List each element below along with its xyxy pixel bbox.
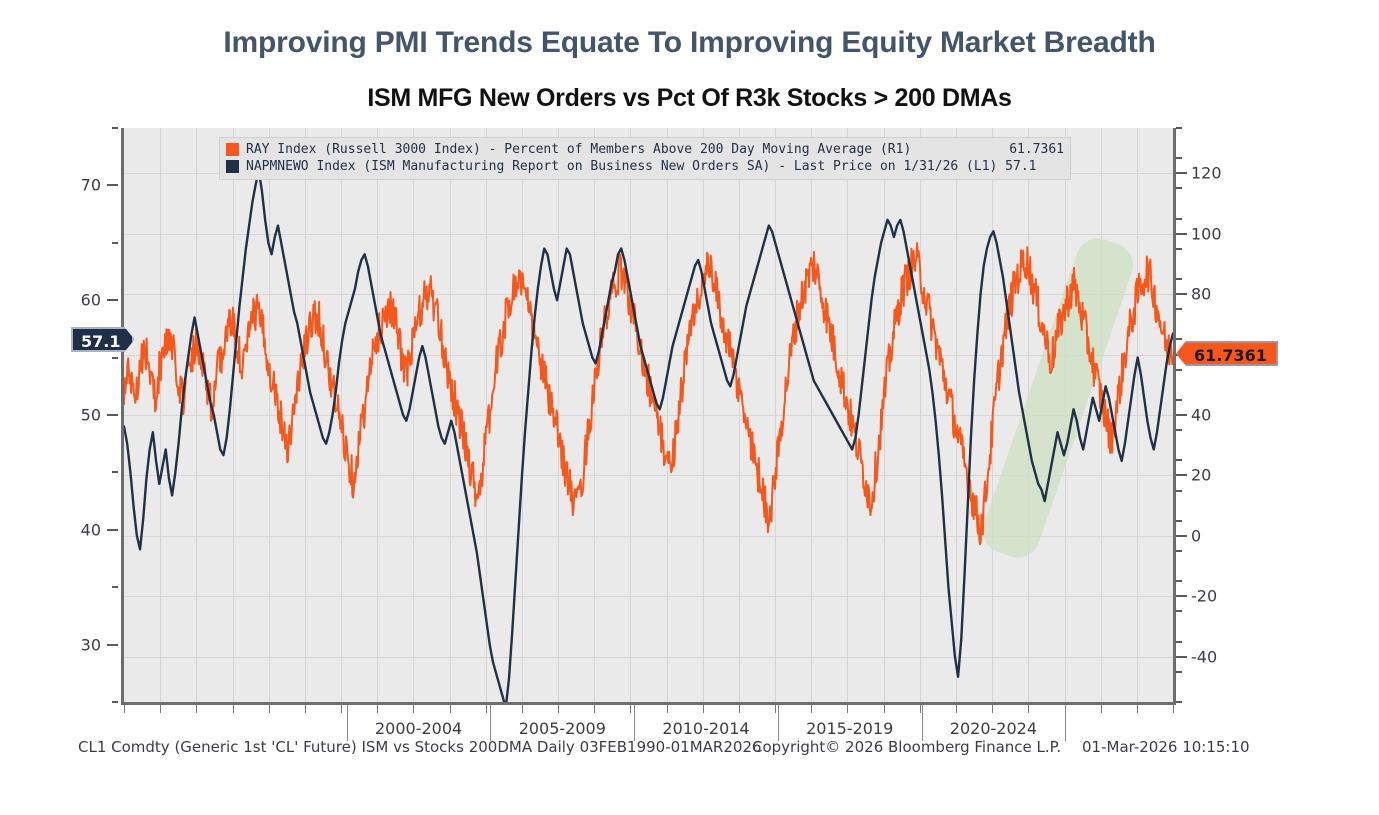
time-axis-group-label: 2020-2024 [950,719,1037,738]
axis-tick [1176,595,1187,597]
time-axis-tick [558,705,559,713]
axis-tick-minor [1176,490,1182,492]
time-axis-tick [775,705,776,713]
time-axis-tick [377,705,378,713]
time-axis-tick [486,705,487,713]
time-axis-tick [847,705,848,713]
time-axis-tick [160,705,161,713]
axis-tick-minor [112,701,118,703]
left-axis-tick-label: 50 [81,406,101,425]
time-axis-tick [413,705,414,713]
legend-row: RAY Index (Russell 3000 Index) - Percent… [226,141,1064,158]
time-axis-group-label: 2015-2019 [806,719,893,738]
time-axis-tick [1137,705,1138,713]
legend-label-napmnewo: NAPMNEWO Index (ISM Manufacturing Report… [246,159,1064,174]
time-axis-tick [522,705,523,713]
axis-tick [1176,233,1187,235]
axis-tick-minor [1176,610,1182,612]
time-axis-tick [1028,705,1029,713]
axis-tick-minor [1176,580,1182,582]
time-axis-tick [739,705,740,713]
axis-tick [107,414,118,416]
axis-tick-minor [1176,187,1182,189]
time-axis-major-separator [634,705,635,741]
time-axis-tick [811,705,812,713]
time-axis-tick [630,705,631,713]
time-axis-tick [124,705,125,713]
time-axis-tick [305,705,306,713]
chart-legend: RAY Index (Russell 3000 Index) - Percent… [219,137,1071,180]
time-axis-major-separator [347,705,348,741]
right-axis-tick-label: 100 [1191,224,1222,243]
left-axis-tick-label: 30 [81,635,101,654]
time-axis-group-label: 2005-2009 [519,719,606,738]
axis-tick [1176,172,1187,174]
axis-tick-minor [112,242,118,244]
axis-tick-minor [1176,278,1182,280]
axis-tick [107,644,118,646]
footer-copyright: Copyright© 2026 Bloomberg Finance L.P. [752,738,1061,756]
axis-tick [1176,474,1187,476]
axis-tick-minor [1176,701,1182,703]
series-canvas [124,128,1173,702]
right-axis-tick-label: -20 [1191,587,1217,606]
time-axis-tick [992,705,993,713]
right-axis-tick-label: -40 [1191,647,1217,666]
axis-tick-minor [1176,338,1182,340]
right-axis-tick-label: 40 [1191,406,1211,425]
axis-tick-minor [112,127,118,129]
legend-label-ray: RAY Index (Russell 3000 Index) - Percent… [246,142,999,157]
plot-area [121,128,1176,705]
axis-tick-minor [1176,550,1182,552]
legend-row: NAPMNEWO Index (ISM Manufacturing Report… [226,158,1064,175]
time-axis-tick [233,705,234,713]
footer-timestamp: 01-Mar-2026 10:15:10 [1082,738,1250,756]
right-axis-tick-label: 80 [1191,285,1211,304]
axis-tick-minor [1176,671,1182,673]
time-axis-major-separator [1065,705,1066,741]
axis-tick-minor [1176,459,1182,461]
right-axis-tick-label: 120 [1191,164,1222,183]
footer-description: CL1 Comdty (Generic 1st 'CL' Future) ISM… [78,738,762,756]
time-axis-tick [1173,705,1174,713]
axis-tick-minor [1176,248,1182,250]
time-axis-tick [341,705,342,713]
axis-tick-minor [1176,127,1182,129]
right-value-axis: -40-20020406080100120 [1176,128,1376,708]
right-axis-tick-label: 20 [1191,466,1211,485]
axis-tick-minor [112,357,118,359]
left-axis-tick-label: 70 [81,176,101,195]
axis-tick [107,529,118,531]
axis-tick-minor [1176,218,1182,220]
time-axis-major-separator [490,705,491,741]
left-axis-tick-label: 60 [81,291,101,310]
time-axis-tick [594,705,595,713]
legend-swatch-ray-icon [226,143,239,156]
axis-tick-minor [1176,399,1182,401]
legend-swatch-napmnewo-icon [226,160,239,173]
time-axis-tick [956,705,957,713]
right-last-value-badge: 61.7361 [1176,341,1278,366]
axis-tick-minor [112,586,118,588]
time-axis-major-separator [922,705,923,741]
axis-tick-minor [1176,429,1182,431]
time-axis-group-label: 2010-2014 [662,719,749,738]
chart-figure: 3040506070 -40-20020406080100120 2000-20… [0,0,1379,815]
axis-tick [107,299,118,301]
green-uptrend-band [977,233,1139,564]
legend-value-ray: 61.7361 [1009,142,1064,157]
axis-tick [1176,414,1187,416]
time-axis-tick [667,705,668,713]
time-axis-major-separator [778,705,779,741]
axis-tick-minor [1176,308,1182,310]
left-value-axis: 3040506070 [0,128,121,708]
axis-tick [107,184,118,186]
time-axis-tick [703,705,704,713]
time-axis-tick [884,705,885,713]
right-axis-tick-label: 0 [1191,526,1201,545]
time-axis-tick [269,705,270,713]
axis-tick [1176,656,1187,658]
chart-footer: CL1 Comdty (Generic 1st 'CL' Future) ISM… [0,738,1379,760]
time-axis-tick [196,705,197,713]
time-axis-tick [1101,705,1102,713]
axis-tick [1176,293,1187,295]
left-axis-tick-label: 40 [81,520,101,539]
axis-tick-minor [112,471,118,473]
axis-tick-minor [1176,157,1182,159]
left-last-value-badge: 57.1 [71,327,134,352]
axis-tick-minor [1176,520,1182,522]
axis-tick [1176,535,1187,537]
axis-tick-minor [1176,641,1182,643]
time-axis-group-label: 2000-2004 [375,719,462,738]
time-axis: 2000-20042005-20092010-20142015-20192020… [121,705,1179,719]
time-axis-tick [450,705,451,713]
axis-tick-minor [1176,369,1182,371]
